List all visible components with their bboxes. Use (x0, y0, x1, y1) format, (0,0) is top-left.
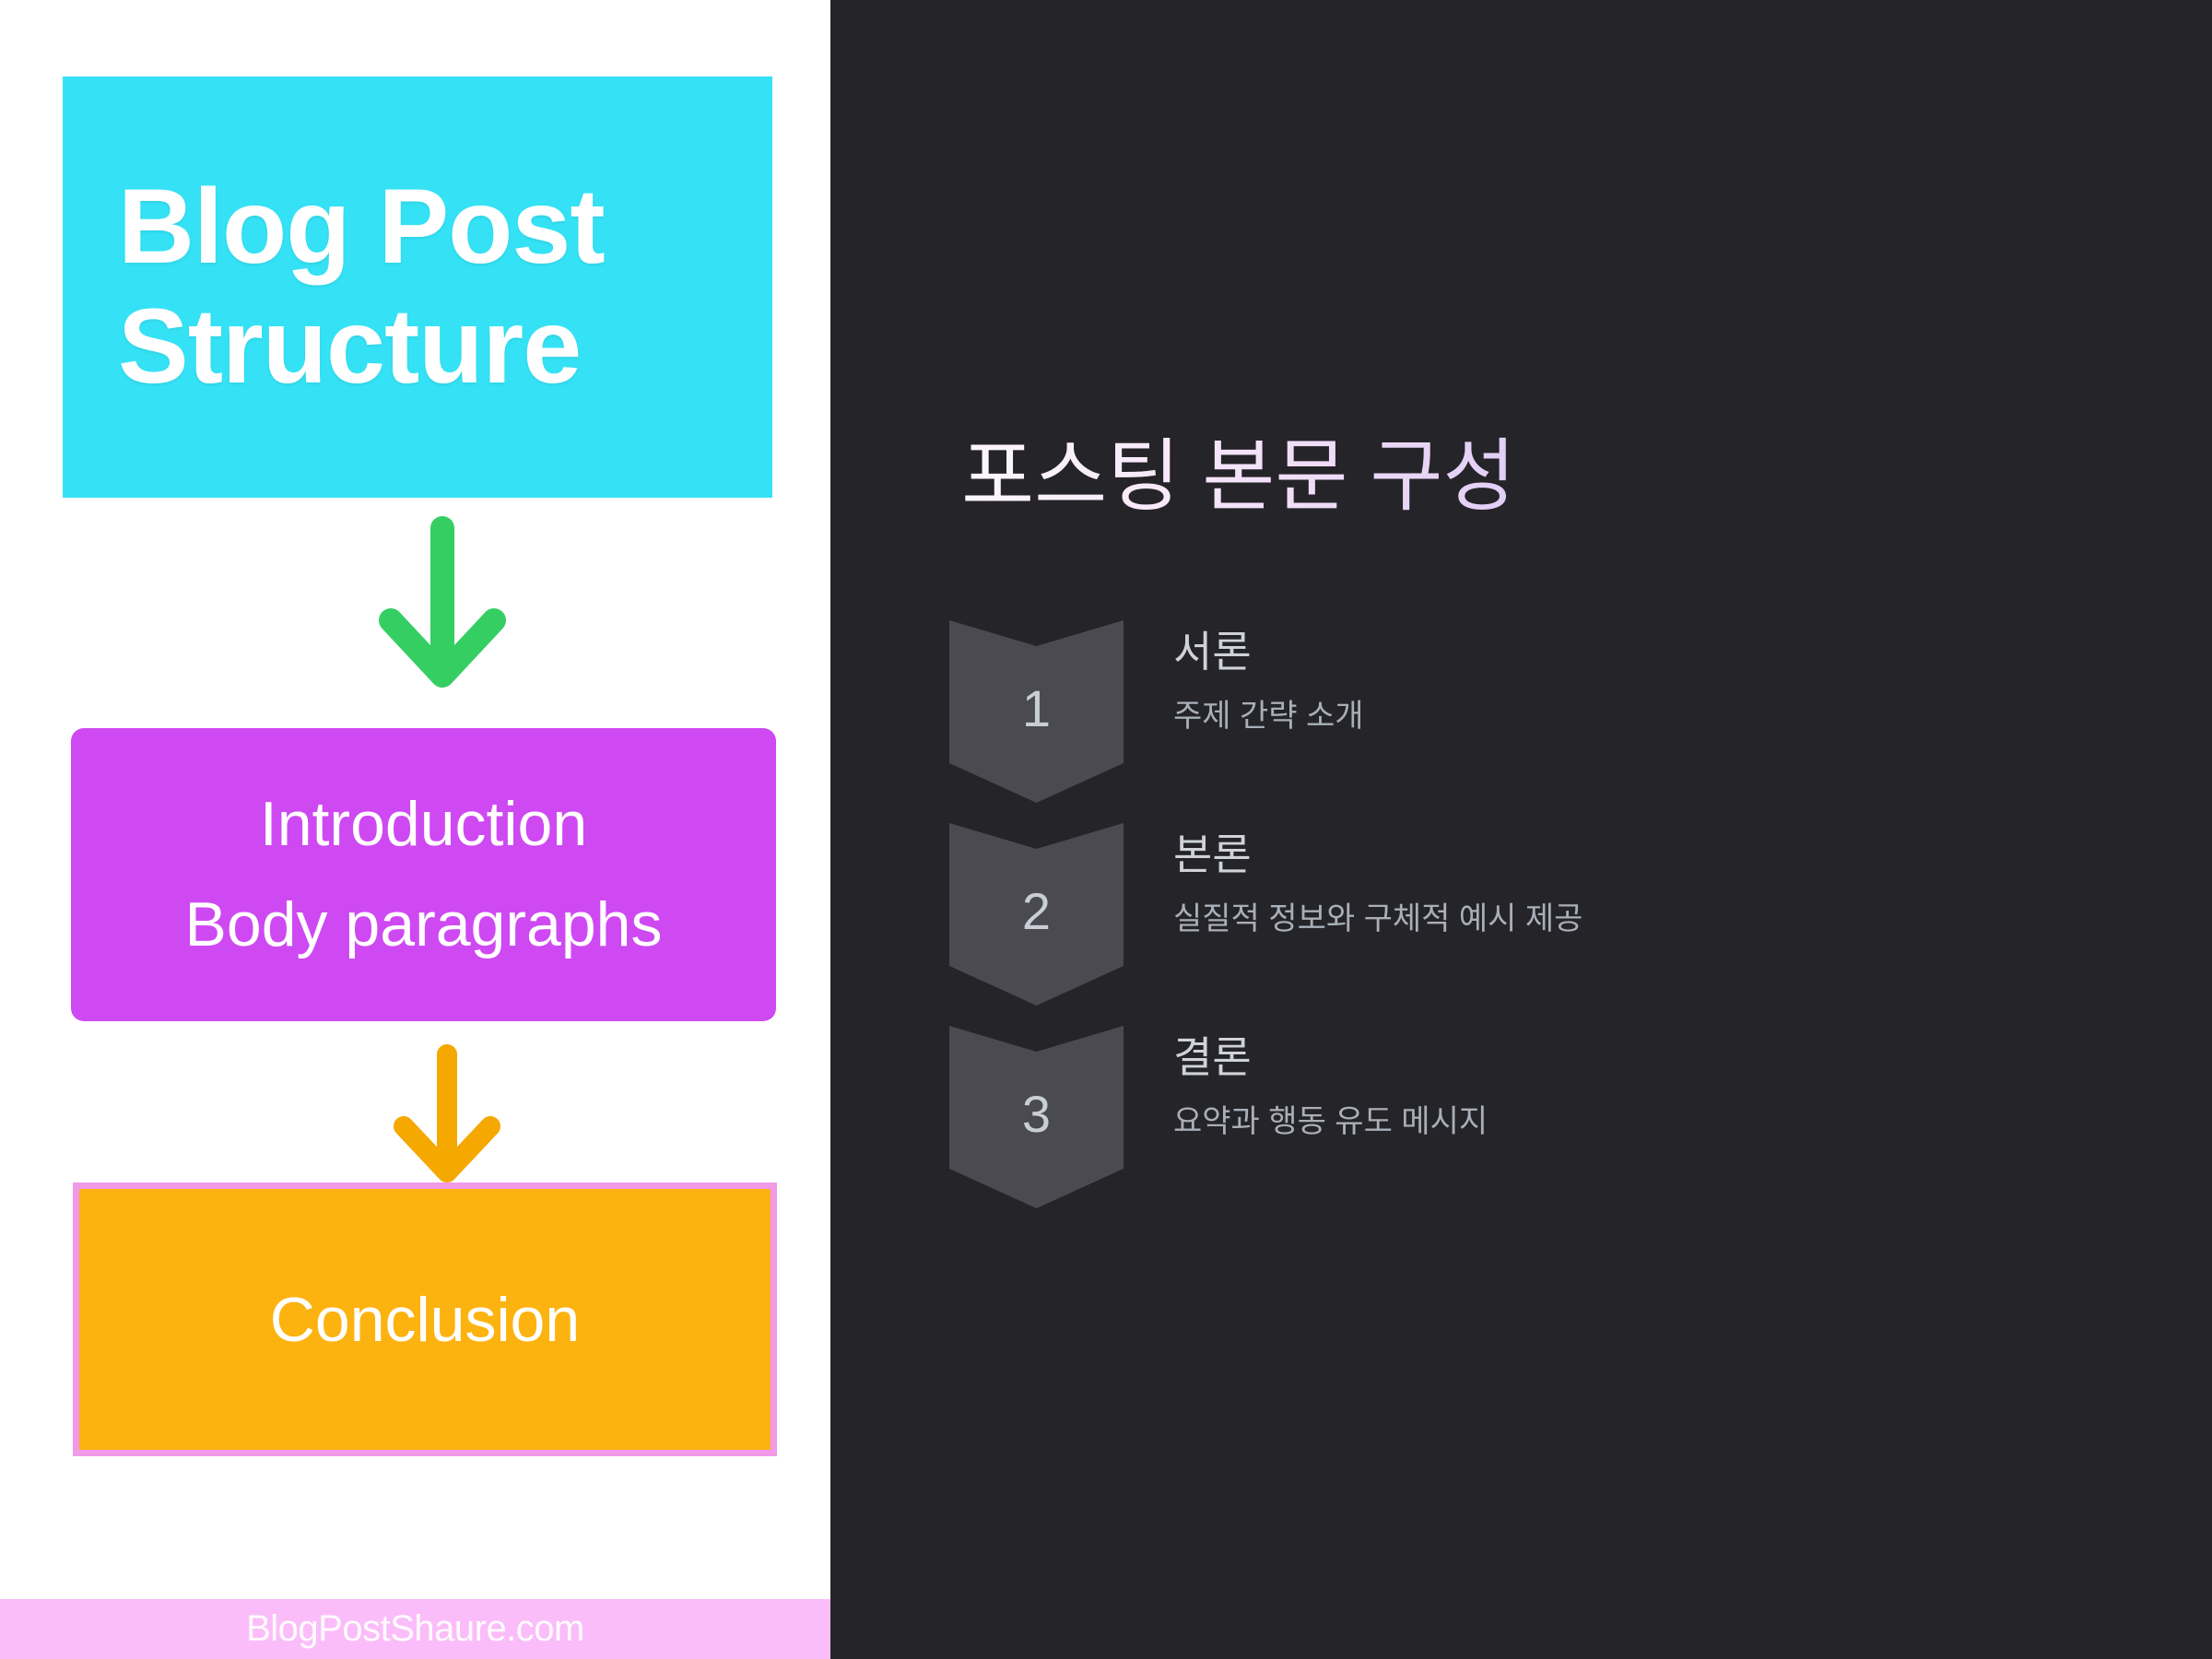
step-heading: 서론 (1173, 626, 2113, 679)
left-infographic-panel: Blog Post Structure Introduction Body pa… (0, 0, 830, 1659)
slide-root: Blog Post Structure Introduction Body pa… (0, 0, 2212, 1659)
list-item: 2 본론 실질적 정보와 구체적 예시 제공 (949, 823, 2147, 1026)
introduction-body-card: Introduction Body paragraphs (71, 728, 776, 1021)
conclusion-label: Conclusion (270, 1284, 580, 1356)
chevron-banner-icon (949, 1026, 1124, 1238)
list-item: 1 서론 주제 간략 소개 (949, 620, 2147, 823)
conclusion-card: Conclusion (73, 1182, 777, 1456)
footer-watermark-band: BlogPostShaure.com (0, 1599, 830, 1659)
list-item: 3 결론 요약과 행동 유도 메시지 (949, 1026, 2147, 1229)
body-card-line-2: Body paragraphs (185, 892, 663, 958)
chevron-banner-icon (949, 823, 1124, 1035)
step-description: 주제 간략 소개 (1173, 696, 2113, 736)
arrow-down-icon-green (369, 512, 516, 696)
arrow-down-icon-orange (387, 1041, 507, 1189)
blog-post-structure-title-card: Blog Post Structure (63, 76, 772, 498)
steps-list: 1 서론 주제 간략 소개 2 본론 실질적 정보와 구체적 예시 제공 (949, 620, 2147, 1229)
step-description: 요약과 행동 유도 메시지 (1173, 1101, 2113, 1142)
step-text-group: 결론 요약과 행동 유도 메시지 (1173, 1031, 2113, 1142)
step-description: 실질적 정보와 구체적 예시 제공 (1173, 899, 2113, 939)
title-line-1: Blog Post (118, 168, 605, 288)
step-text-group: 서론 주제 간략 소개 (1173, 626, 2113, 736)
title-line-2: Structure (118, 288, 581, 407)
chevron-banner-icon (949, 620, 1124, 832)
step-heading: 결론 (1173, 1031, 2113, 1085)
body-card-line-1: Introduction (260, 792, 587, 857)
step-heading: 본론 (1173, 829, 2113, 882)
footer-watermark-text: BlogPostShaure.com (246, 1608, 584, 1650)
step-text-group: 본론 실질적 정보와 구체적 예시 제공 (1173, 829, 2113, 939)
right-dark-panel: 포스팅 본문 구성 1 서론 주제 간략 소개 (830, 0, 2212, 1659)
page-title: 포스팅 본문 구성 (961, 433, 1516, 521)
